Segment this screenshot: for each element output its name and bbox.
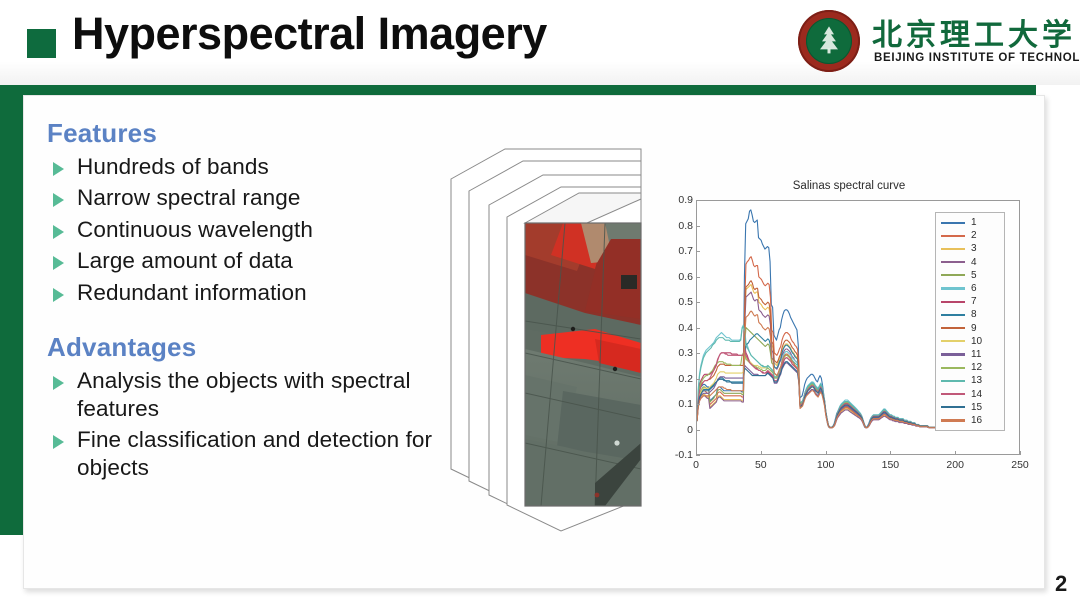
slide-number: 2 — [1055, 571, 1067, 597]
chart-legend-label: 4 — [971, 257, 977, 268]
chart-line-series — [697, 326, 960, 427]
chart-legend-label: 15 — [971, 402, 982, 413]
logo-chinese-name: 北京理工大学 — [872, 10, 1076, 54]
chart-legend-swatch — [941, 419, 965, 421]
chart-legend-swatch — [941, 301, 965, 303]
list-item: Continuous wavelength — [47, 216, 452, 243]
chart-legend-label: 5 — [971, 270, 977, 281]
bit-seal-icon — [798, 10, 860, 72]
section-heading-advantages: Advantages — [47, 332, 452, 363]
list-item: Large amount of data — [47, 247, 452, 274]
chart-y-tick-mark — [696, 226, 700, 227]
chart-y-tick-label: 0.1 — [653, 398, 693, 410]
chart-line-series — [697, 355, 960, 427]
triangle-bullet-icon — [53, 435, 64, 449]
triangle-bullet-icon — [53, 256, 64, 270]
chart-line-series — [697, 353, 960, 428]
chart-x-tick-mark — [826, 451, 827, 455]
chart-y-tick-mark — [696, 277, 700, 278]
chart-x-tick-label: 0 — [676, 459, 716, 471]
chart-legend-label: 11 — [971, 349, 981, 360]
chart-y-tick-label: 0.6 — [653, 271, 693, 283]
list-item: Hundreds of bands — [47, 153, 452, 180]
list-item-label: Hundreds of bands — [77, 153, 269, 180]
chart-legend-item[interactable]: 6 — [936, 282, 1004, 295]
chart-legend-item[interactable]: 16 — [936, 414, 1004, 427]
chart-line-series — [697, 257, 960, 428]
logo-english-name: BEIJING INSTITUTE OF TECHNOLOGY — [874, 52, 1080, 64]
chart-legend-swatch — [941, 327, 965, 329]
chart-legend-label: 7 — [971, 296, 977, 307]
chart-legend-label: 1 — [971, 217, 977, 228]
chart-title: Salinas spectral curve — [663, 180, 1035, 192]
chart-legend-swatch — [941, 248, 965, 250]
chart-y-tick-label: 0.8 — [653, 220, 693, 232]
chart-legend-swatch — [941, 393, 965, 395]
chart-legend-swatch — [941, 380, 965, 382]
chart-legend-swatch — [941, 367, 965, 369]
chart-legend-item[interactable]: 10 — [936, 335, 1004, 348]
chart-x-tick-label: 150 — [870, 459, 910, 471]
university-logo: 北京理工大学 BEIJING INSTITUTE OF TECHNOLOGY — [798, 8, 1068, 76]
chart-legend-item[interactable]: 4 — [936, 256, 1004, 269]
chart-line-series — [697, 348, 960, 428]
chart-legend-label: 2 — [971, 230, 977, 241]
bullet-content-column: Features Hundreds of bands Narrow spectr… — [47, 118, 452, 485]
chart-line-series — [697, 284, 960, 427]
chart-y-tick-label: 0.3 — [653, 347, 693, 359]
list-item: Fine classification and detection for ob… — [47, 426, 452, 481]
chart-x-tick-label: 50 — [741, 459, 781, 471]
chart-legend-label: 16 — [971, 415, 982, 426]
chart-x-tick-mark — [696, 451, 697, 455]
chart-y-tick-mark — [696, 302, 700, 303]
list-item-label: Redundant information — [77, 279, 307, 306]
list-item: Narrow spectral range — [47, 184, 452, 211]
chart-legend-label: 12 — [971, 362, 982, 373]
chart-y-tick-label: 0.2 — [653, 373, 693, 385]
triangle-bullet-icon — [53, 376, 64, 390]
triangle-bullet-icon — [53, 162, 64, 176]
chart-legend-item[interactable]: 5 — [936, 269, 1004, 282]
chart-legend-swatch — [941, 287, 965, 289]
hyperspectral-data-cube-image — [445, 143, 655, 533]
chart-y-tick-label: 0.9 — [653, 194, 693, 206]
page-title: Hyperspectral Imagery — [72, 8, 547, 60]
chart-x-tick-mark — [761, 451, 762, 455]
list-item: Redundant information — [47, 279, 452, 306]
chart-legend-swatch — [941, 222, 965, 224]
chart-legend-item[interactable]: 1 — [936, 216, 1004, 229]
chart-legend-label: 8 — [971, 309, 977, 320]
chart-y-tick-mark — [696, 379, 700, 380]
chart-legend-swatch — [941, 406, 965, 408]
triangle-bullet-icon — [53, 225, 64, 239]
chart-x-tick-mark — [955, 451, 956, 455]
chart-y-tick-mark — [696, 328, 700, 329]
chart-legend-item[interactable]: 14 — [936, 387, 1004, 400]
list-item-label: Continuous wavelength — [77, 216, 313, 243]
chart-line-series — [697, 292, 960, 428]
chart-x-tick-label: 250 — [1000, 459, 1040, 471]
chart-legend-item[interactable]: 8 — [936, 308, 1004, 321]
chart-x-tick-label: 200 — [935, 459, 975, 471]
chart-y-tick-mark — [696, 455, 700, 456]
chart-x-tick-label: 100 — [806, 459, 846, 471]
title-bullet-square — [27, 29, 56, 58]
spectral-curve-chart: Salinas spectral curve -0.100.10.20.30.4… — [663, 170, 1035, 500]
chart-legend-swatch — [941, 353, 965, 355]
chart-y-tick-mark — [696, 251, 700, 252]
chart-line-series — [697, 210, 960, 428]
chart-y-tick-label: 0.7 — [653, 245, 693, 257]
chart-legend-swatch — [941, 340, 965, 342]
chart-legend-item[interactable]: 7 — [936, 295, 1004, 308]
chart-legend-item[interactable]: 11 — [936, 348, 1004, 361]
chart-line-series — [697, 345, 960, 427]
chart-legend-item[interactable]: 15 — [936, 401, 1004, 414]
chart-legend-label: 6 — [971, 283, 977, 294]
chart-line-series — [697, 334, 960, 428]
chart-legend-label: 3 — [971, 243, 977, 254]
chart-legend-label: 13 — [971, 375, 982, 386]
chart-y-tick-label: 0.4 — [653, 322, 693, 334]
chart-legend-item[interactable]: 13 — [936, 374, 1004, 387]
list-item-label: Analysis the objects with spectral featu… — [77, 367, 452, 422]
chart-y-tick-mark — [696, 404, 700, 405]
chart-y-tick-label: 0 — [653, 424, 693, 436]
chart-line-series — [697, 311, 960, 428]
chart-y-tick-mark — [696, 200, 700, 201]
list-item-label: Narrow spectral range — [77, 184, 300, 211]
triangle-bullet-icon — [53, 193, 64, 207]
list-item-label: Fine classification and detection for ob… — [77, 426, 452, 481]
chart-legend-label: 10 — [971, 336, 982, 347]
chart-line-series — [697, 325, 960, 427]
chart-line-series — [697, 362, 960, 428]
chart-y-tick-mark — [696, 353, 700, 354]
chart-x-tick-mark — [890, 451, 891, 455]
chart-line-series — [697, 328, 960, 428]
chart-legend-item[interactable]: 3 — [936, 242, 1004, 255]
chart-legend-swatch — [941, 235, 965, 237]
list-item: Analysis the objects with spectral featu… — [47, 367, 452, 422]
chart-legend-item[interactable]: 2 — [936, 229, 1004, 242]
chart-legend-label: 9 — [971, 323, 977, 334]
chart-legend-swatch — [941, 261, 965, 263]
triangle-bullet-icon — [53, 288, 64, 302]
pine-tree-icon — [816, 25, 842, 55]
chart-legend-swatch — [941, 314, 965, 316]
chart-legend-label: 14 — [971, 389, 982, 400]
chart-legend-swatch — [941, 274, 965, 276]
section-heading-features: Features — [47, 118, 452, 149]
chart-x-tick-mark — [1020, 451, 1021, 455]
chart-legend-item[interactable]: 12 — [936, 361, 1004, 374]
slide-title-bar: Hyperspectral Imagery 北京理工大学 BEIJING INS… — [0, 0, 1080, 85]
list-item-label: Large amount of data — [77, 247, 293, 274]
chart-legend: 12345678910111213141516 — [935, 212, 1005, 431]
chart-y-tick-mark — [696, 430, 700, 431]
chart-y-tick-label: 0.5 — [653, 296, 693, 308]
chart-legend-item[interactable]: 9 — [936, 322, 1004, 335]
